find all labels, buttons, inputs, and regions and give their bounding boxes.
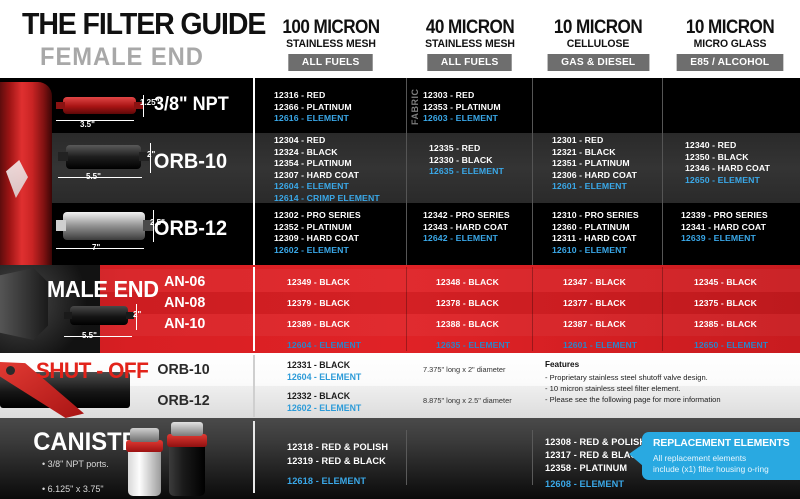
feature-item: - Please see the following page for more… [545,394,721,405]
column-1-media: STAINLESS MESH [260,37,403,51]
male-column-divider-3 [662,267,663,351]
part-number-element: 12635 - ELEMENT [429,166,504,178]
fabric-label: FABRIC [410,91,420,125]
orb10-dim-length: 5.5" [86,172,101,181]
cell-orb12-c1: 12302 - PRO SERIES 12352 - PLATINUM 1230… [274,210,361,256]
part-number: 12346 - HARD COAT [685,163,770,175]
cell-orb10-c4: 12340 - RED 12350 - BLACK 12346 - HARD C… [685,140,770,186]
part-number-element: 12601 - ELEMENT [552,181,637,193]
page-header: THE FILTER GUIDE FEMALE END 100 MICRON S… [0,0,800,78]
part-number: 12332 - BLACK [287,391,361,403]
cell-orb10-c3: 12301 - RED 12321 - BLACK 12351 - PLATIN… [552,135,637,193]
canister-column-divider-main [253,421,255,493]
part-number: 12378 - BLACK [436,298,499,308]
column-header-2: 40 MICRON STAINLESS MESH ALL FUELS [408,18,532,71]
part-number-element: 12608 - ELEMENT [545,478,646,491]
cell-npt-c2: 12303 - RED 12353 - PLATINUM 12603 - ELE… [423,90,501,125]
male-column-divider-1 [406,267,407,351]
part-number-element: 12601 - ELEMENT [563,340,637,350]
part-number-element: 12602 - ELEMENT [287,403,361,415]
column-4-fuel: E85 / ALCOHOL [677,54,783,71]
part-number-element: 12650 - ELEMENT [685,175,770,187]
cell-orb10-c1: 12304 - RED 12324 - BLACK 12354 - PLATIN… [274,135,380,205]
feature-item: - Proprietary stainless steel shutoff va… [545,372,721,383]
part-number-element: 12603 - ELEMENT [423,113,501,125]
part-number-element: 12650 - ELEMENT [694,340,768,350]
cell-canister-c1: 12318 - RED & POLISH 12319 - RED & BLACK… [287,440,388,488]
part-number: 12377 - BLACK [563,298,626,308]
part-number: 12345 - BLACK [694,277,757,287]
part-number: 12347 - BLACK [563,277,626,287]
canister-bullet: • 3/8" NPT ports. [42,458,109,471]
features-title: Features [545,360,579,369]
column-4-micron: 10 MICRON [671,18,790,37]
part-number: 12343 - HARD COAT [423,222,510,234]
canister-bullet: • 6.125" x 3.75" [42,483,109,496]
part-number: 12351 - PLATINUM [552,158,637,170]
orb12-dim-length: 7" [92,243,100,252]
shutoff-column-divider-main [253,355,255,417]
part-number-element: 12616 - ELEMENT [274,113,352,125]
badge-title: REPLACEMENT ELEMENTS [653,438,790,449]
part-number: 12306 - HARD COAT [552,170,637,182]
column-divider-3 [662,78,663,265]
column-header-1: 100 MICRON STAINLESS MESH ALL FUELS [256,18,406,71]
canister-bullets: • 3/8" NPT ports. • 6.125" x 3.75" [42,458,109,484]
part-number: 12348 - BLACK [436,277,499,287]
part-number: 12311 - HARD COAT [552,233,639,245]
part-number: 12353 - PLATINUM [423,102,501,114]
cell-orb12-c4: 12339 - PRO SERIES 12341 - HARD COAT 126… [681,210,768,245]
column-3-micron: 10 MICRON [540,18,655,37]
part-number: 12318 - RED & POLISH [287,440,388,454]
column-4-media: MICRO GLASS [667,37,792,51]
cell-npt-c1: 12316 - RED 12366 - PLATINUM 12616 - ELE… [274,90,352,125]
cell-shutoff-orb10: 12331 - BLACK 12604 - ELEMENT [287,360,361,383]
part-number: 12375 - BLACK [694,298,757,308]
part-number: 12366 - PLATINUM [274,102,352,114]
part-number: 12352 - PLATINUM [274,222,361,234]
part-number: 12335 - RED [429,143,504,155]
column-divider-1 [406,78,407,265]
part-number: 12388 - BLACK [436,319,499,329]
part-number: 12307 - HARD COAT [274,170,380,182]
part-number: 12349 - BLACK [287,277,350,287]
part-number: 12330 - BLACK [429,155,504,167]
column-1-fuel: ALL FUELS [289,54,374,71]
column-header-4: 10 MICRON MICRO GLASS E85 / ALCOHOL [664,18,796,71]
part-number: 12389 - BLACK [287,319,350,329]
part-number: 12309 - HARD COAT [274,233,361,245]
part-number: 12302 - PRO SERIES [274,210,361,222]
column-2-micron: 40 MICRON [414,18,526,37]
male-dim-diameter: 2" [133,310,141,319]
shutoff-row-label-orb10: ORB-10 [157,361,209,378]
filter-guide-page: THE FILTER GUIDE FEMALE END 100 MICRON S… [0,0,800,499]
male-column-divider-main [253,267,255,351]
page-subtitle: FEMALE END [40,43,204,72]
part-number-element: 12635 - ELEMENT [436,340,510,350]
female-row-label-npt: 3/8" NPT [154,94,229,116]
shutoff-row-label-orb12: ORB-12 [157,392,209,409]
canister-column-divider-2 [532,430,533,485]
part-number: 12341 - HARD COAT [681,222,768,234]
part-number: 12301 - RED [552,135,637,147]
part-number: 12319 - RED & BLACK [287,454,388,468]
row-band-npt [0,78,800,133]
part-number-element: 12604 - ELEMENT [287,340,361,350]
part-number-crimp-element: 12614 - CRIMP ELEMENT [274,193,380,205]
female-end-section [0,78,800,265]
replacement-elements-badge: REPLACEMENT ELEMENTS All replacement ele… [642,432,800,480]
column-2-fuel: ALL FUELS [428,54,513,71]
row-band-orb12 [0,203,800,265]
part-number-element: 12604 - ELEMENT [274,181,380,193]
badge-subtitle-line2: include (x1) filter housing o-ring [653,464,769,474]
npt-dim-line-len [56,120,134,121]
feature-item: - 10 micron stainless steel filter eleme… [545,383,721,394]
shutoff-spec-orb10: 7.375" long x 2" diameter [423,365,506,374]
part-number-element: 12639 - ELEMENT [681,233,768,245]
male-row-band-3 [0,314,800,336]
part-number: 12316 - RED [274,90,352,102]
part-number: 12339 - PRO SERIES [681,210,768,222]
male-dim-length: 5.5" [82,331,97,340]
shutoff-spec-orb12: 8.875" long x 2.5" diameter [423,396,512,405]
part-number: 12340 - RED [685,140,770,152]
canister-label: CANISTER [33,428,154,457]
column-1-micron: 100 MICRON [264,18,399,37]
part-number: 12360 - PLATINUM [552,222,639,234]
male-row-label-an08: AN-08 [164,294,205,311]
cell-orb10-c2: 12335 - RED 12330 - BLACK 12635 - ELEMEN… [429,143,504,178]
male-end-label: MALE END [47,276,159,303]
page-title: THE FILTER GUIDE [22,6,265,42]
part-number: 12387 - BLACK [563,319,626,329]
part-number: 12303 - RED [423,90,501,102]
part-number: 12350 - BLACK [685,152,770,164]
part-number: 12379 - BLACK [287,298,350,308]
row-band-orb10 [0,133,800,203]
column-divider-2 [532,78,533,265]
part-number: 12310 - PRO SERIES [552,210,639,222]
features-list: - Proprietary stainless steel shutoff va… [545,372,721,405]
male-column-divider-2 [532,267,533,351]
part-number-element: 12610 - ELEMENT [552,245,639,257]
canister-column-divider-1 [406,430,407,485]
part-number: 12342 - PRO SERIES [423,210,510,222]
column-2-media: STAINLESS MESH [411,37,529,51]
part-number: 12354 - PLATINUM [274,158,380,170]
male-row-label-an06: AN-06 [164,273,205,290]
column-3-fuel: GAS & DIESEL [547,54,648,71]
column-divider-main [253,78,255,265]
column-3-media: CELLULOSE [537,37,659,51]
npt-dim-length: 3.5" [80,120,95,129]
badge-subtitle-line1: All replacement elements [653,453,746,463]
cell-shutoff-orb12: 12332 - BLACK 12602 - ELEMENT [287,391,361,414]
cell-orb12-c3: 12310 - PRO SERIES 12360 - PLATINUM 1231… [552,210,639,256]
part-number-element: 12602 - ELEMENT [274,245,361,257]
part-number: 12304 - RED [274,135,380,147]
badge-subtitle: All replacement elements include (x1) fi… [653,453,769,475]
part-number: 12324 - BLACK [274,147,380,159]
part-number: 12385 - BLACK [694,319,757,329]
female-row-label-orb10: ORB-10 [154,150,227,174]
part-number-element: 12618 - ELEMENT [287,474,388,488]
male-dim-line-len [64,336,132,337]
part-number: 12331 - BLACK [287,360,361,372]
part-number-element: 12604 - ELEMENT [287,372,361,384]
shutoff-label: SHUT - OFF [36,358,149,384]
cell-orb12-c2: 12342 - PRO SERIES 12343 - HARD COAT 126… [423,210,510,245]
male-row-label-an10: AN-10 [164,315,205,332]
column-header-3: 10 MICRON CELLULOSE GAS & DIESEL [534,18,662,71]
part-number-element: 12642 - ELEMENT [423,233,510,245]
female-row-label-orb12: ORB-12 [154,217,227,241]
part-number: 12321 - BLACK [552,147,637,159]
